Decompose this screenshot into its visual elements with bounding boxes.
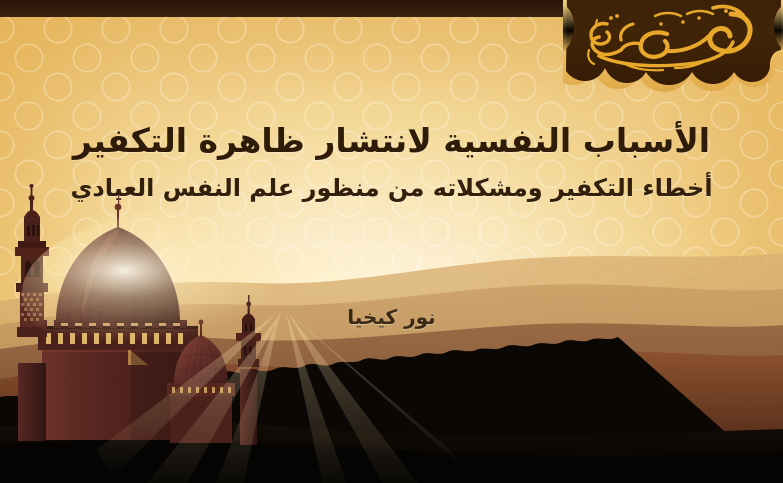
title-block: الأسباب النفسية لانتشار ظاهرة التكفير أخ… xyxy=(0,118,783,206)
mosque-sunset-scene xyxy=(0,183,783,483)
brand-logo-badge[interactable] xyxy=(563,0,783,102)
poster-canvas: الأسباب النفسية لانتشار ظاهرة التكفير أخ… xyxy=(0,0,783,483)
page-subtitle: أخطاء التكفير ومشكلاته من منظور علم النف… xyxy=(0,171,783,206)
author-name: نور كيخيا xyxy=(0,305,783,329)
page-title: الأسباب النفسية لانتشار ظاهرة التكفير xyxy=(0,118,783,165)
